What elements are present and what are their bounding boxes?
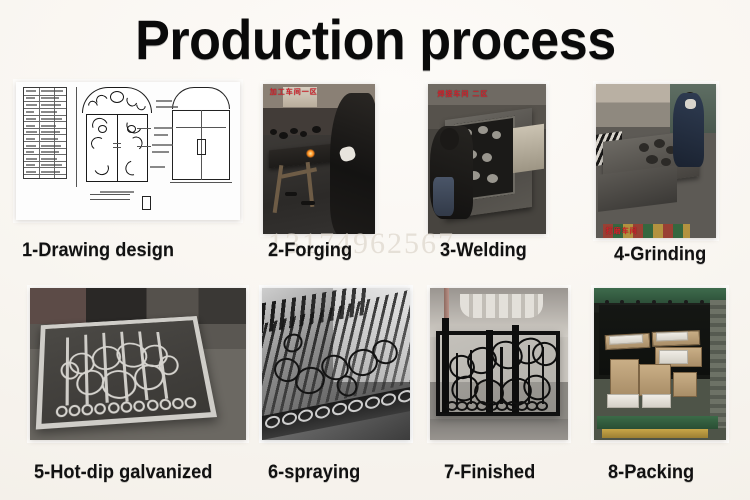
step-card-5[interactable]: 5-Hot-dip galvanized — [24, 284, 250, 500]
step-card-2[interactable]: 加工车间一区 2-Forging — [258, 80, 380, 285]
page-header: Production process — [0, 4, 750, 76]
caption-step-3: 3-Welding — [440, 240, 527, 262]
iron-panel-lower — [598, 165, 677, 212]
photo-drawing-design[interactable] — [16, 82, 240, 220]
process-step-grid: 1-Drawing design 加工车间一区 2-Forging — [0, 74, 750, 500]
forging-worker — [330, 93, 375, 234]
dust-mask — [685, 99, 696, 108]
container-floor — [597, 416, 718, 430]
photo-packing[interactable] — [594, 288, 726, 440]
caption-step-4: 4-Grinding — [614, 244, 706, 266]
photo-forging[interactable]: 加工车间一区 — [263, 84, 375, 234]
photo-welding[interactable]: 焊接车间 二区 — [428, 84, 546, 234]
caption-step-6: 6-spraying — [268, 462, 360, 484]
caption-step-5: 5-Hot-dip galvanized — [34, 462, 212, 484]
factory-floor — [430, 419, 568, 440]
cad-door-elevation — [82, 87, 152, 187]
caption-step-8: 8-Packing — [608, 462, 694, 484]
step-card-6[interactable]: 6-spraying — [258, 284, 414, 500]
caption-step-2: 2-Forging — [268, 240, 352, 262]
step-card-1[interactable]: 1-Drawing design — [12, 80, 244, 285]
overlay-text-grinding: 打磨车间 — [606, 226, 638, 236]
photo-finished[interactable] — [430, 288, 568, 440]
step-card-3[interactable]: 焊接车间 二区 3-Welding — [424, 80, 548, 285]
photo-spraying[interactable] — [262, 288, 410, 440]
gate-circle-border — [446, 401, 546, 409]
hot-metal-glow — [306, 149, 315, 158]
finished-gate[interactable] — [436, 331, 560, 416]
ceiling-duct — [460, 294, 543, 318]
overlay-text-forging: 加工车间一区 — [270, 87, 318, 97]
worker-head — [440, 128, 459, 151]
caption-step-1: 1-Drawing design — [22, 240, 174, 262]
loading-ramp — [602, 429, 708, 438]
photo-grinding[interactable]: 打磨车间 — [596, 84, 716, 238]
cardboard-sheet — [513, 124, 544, 173]
step-card-4[interactable]: 打磨车间 4-Grinding — [592, 80, 720, 285]
galvanized-gate-panel[interactable] — [35, 316, 217, 430]
worker-jeans — [433, 177, 454, 216]
step-card-8[interactable]: 8-Packing — [588, 284, 736, 500]
step-card-7[interactable]: 7-Finished — [424, 284, 572, 500]
overlay-text-welding: 焊接车间 二区 — [437, 89, 488, 99]
cad-spec-table — [23, 87, 67, 179]
photo-hot-dip-galvanized[interactable] — [30, 288, 246, 440]
cad-section-view — [168, 87, 234, 187]
caption-step-7: 7-Finished — [444, 462, 535, 484]
page-title: Production process — [135, 12, 616, 68]
container-side-wall — [710, 300, 726, 428]
